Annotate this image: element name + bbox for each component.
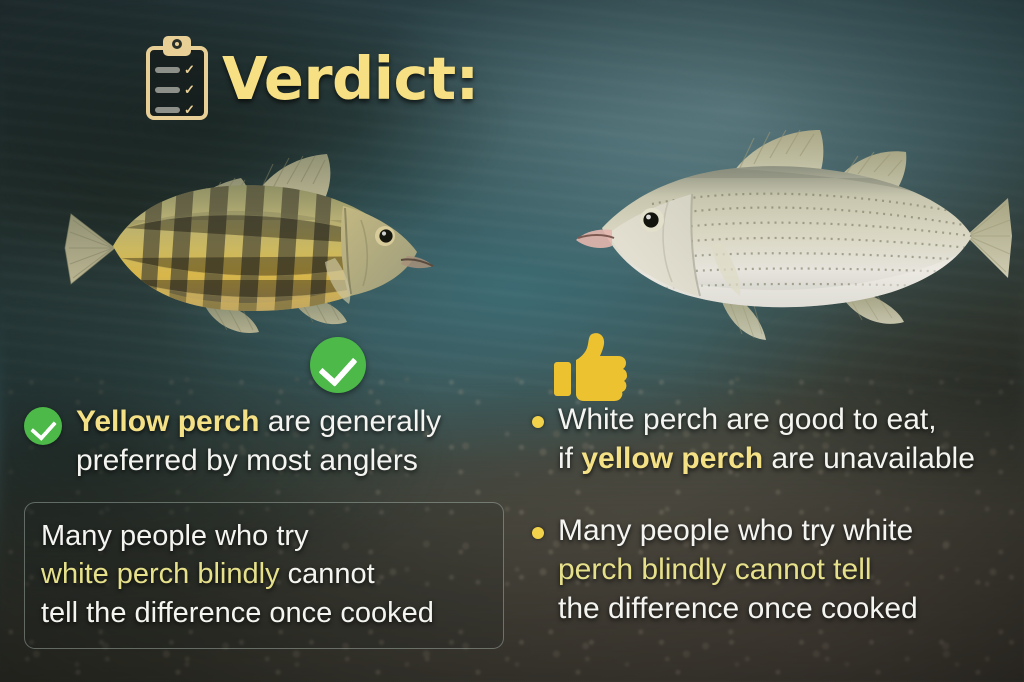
dot-bullet-icon — [532, 527, 544, 539]
clipboard-row: ✓ — [155, 103, 201, 116]
left-bullet-text: Yellow perch are generally preferred by … — [76, 402, 441, 480]
yellow-perch-photo — [55, 128, 455, 360]
left-note-line3: tell the difference once cooked — [41, 597, 434, 629]
right-bullet-2-text: Many people who try white perch blindly … — [558, 511, 918, 628]
left-note-text: Many people who try white perch blindly … — [41, 517, 487, 632]
thumbs-up-icon — [552, 330, 628, 406]
check-circle-icon — [310, 337, 366, 393]
verdict-header: ✓ ✓ ✓ Verdict: — [146, 36, 479, 120]
clipboard-row: ✓ — [155, 83, 201, 96]
clipboard-line — [155, 67, 180, 73]
left-column: Yellow perch are generally preferred by … — [24, 402, 504, 649]
clipboard-checklist-icon: ✓ ✓ ✓ — [146, 36, 208, 120]
clipboard-row: ✓ — [155, 63, 201, 76]
dot-bullet-icon — [532, 416, 544, 428]
clipboard-line — [155, 87, 180, 93]
right-bullet-1-line2-prefix: if — [558, 442, 581, 475]
right-bullet-1-line2-rest: are unavailable — [763, 442, 975, 475]
clipboard-rows: ✓ ✓ ✓ — [155, 63, 201, 123]
check-mark-icon: ✓ — [184, 63, 195, 76]
list-item: White perch are good to eat, if yellow p… — [526, 400, 1016, 478]
check-mark-icon: ✓ — [184, 103, 195, 116]
page-title: Verdict: — [222, 44, 479, 113]
right-bullet-1-text: White perch are good to eat, if yellow p… — [558, 400, 975, 478]
check-circle-icon — [24, 407, 62, 445]
right-bullet-2-line1: Many people who try white — [558, 514, 913, 547]
clipboard-line — [155, 107, 180, 113]
highlight-white-perch-blindly: white perch blindly — [41, 558, 280, 590]
right-bullet-1-line1: White perch are good to eat, — [558, 403, 937, 436]
list-item: Yellow perch are generally preferred by … — [24, 402, 504, 480]
clipboard-ring — [172, 39, 182, 49]
right-column: White perch are good to eat, if yellow p… — [526, 400, 1016, 628]
left-bullet-line1-rest: are generally — [259, 405, 441, 438]
list-item: Many people who try white perch blindly … — [526, 511, 1016, 628]
highlight-yellow-perch: Yellow perch — [76, 405, 259, 438]
white-perch-photo — [542, 108, 1012, 360]
check-mark-icon: ✓ — [184, 83, 195, 96]
left-note-box: Many people who try white perch blindly … — [24, 502, 504, 649]
right-bullet-2-line3: the difference once cooked — [558, 592, 918, 625]
left-note-line2-rest: cannot — [280, 558, 375, 590]
left-bullet-line2: preferred by most anglers — [76, 444, 418, 477]
left-note-line1: Many people who try — [41, 520, 309, 552]
highlight-yellow-perch: yellow perch — [581, 442, 763, 475]
highlight-perch-blindly-cannot-tell: perch blindly cannot tell — [558, 553, 872, 586]
poster-canvas: ✓ ✓ ✓ Verdict: — [0, 0, 1024, 682]
